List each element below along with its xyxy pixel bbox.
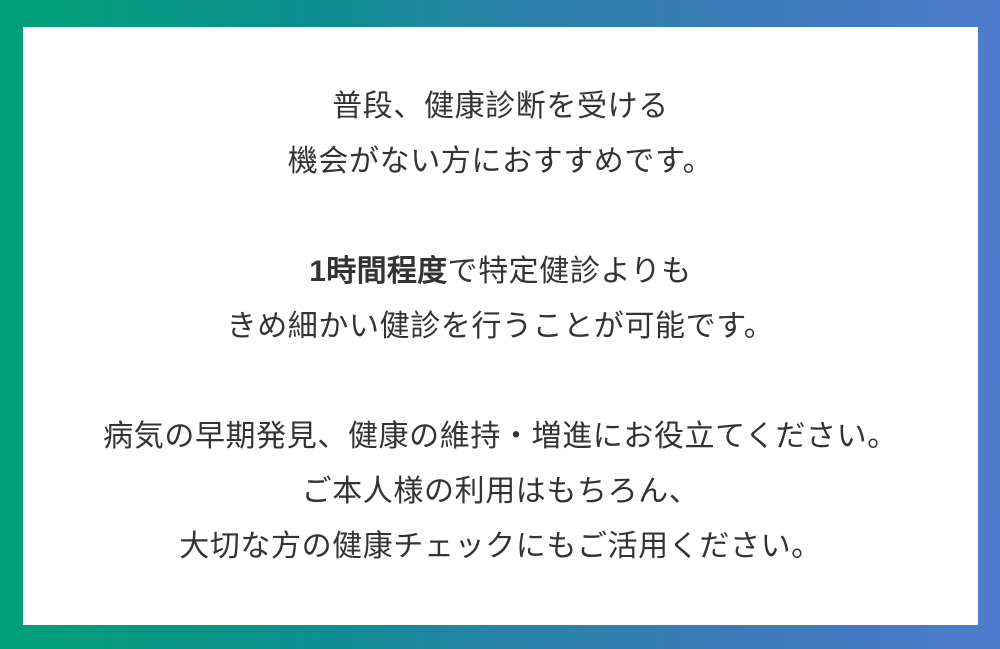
promo-card: 普段、健康診断を受ける 機会がない方におすすめです。 1時間程度で特定健診よりも…	[23, 27, 978, 625]
copy-line: 機会がない方におすすめです。	[23, 134, 978, 189]
copy-line: ご本人様の利用はもちろん、	[23, 464, 978, 519]
copy-line: 病気の早期発見、健康の維持・増進にお役立てください。	[23, 409, 978, 464]
copy-line: 普段、健康診断を受ける	[23, 79, 978, 134]
copy-line: 1時間程度で特定健診よりも	[23, 244, 978, 299]
copy-line: 大切な方の健康チェックにもご活用ください。	[23, 519, 978, 574]
copy-line-remainder: で特定健診よりも	[447, 255, 691, 288]
copy-block-intro: 普段、健康診断を受ける 機会がない方におすすめです。	[23, 79, 978, 189]
copy-line: きめ細かい健診を行うことが可能です。	[23, 299, 978, 354]
promo-copy-stack: 普段、健康診断を受ける 機会がない方におすすめです。 1時間程度で特定健診よりも…	[23, 79, 978, 574]
copy-block-duration: 1時間程度で特定健診よりも きめ細かい健診を行うことが可能です。	[23, 244, 978, 354]
copy-block-usage: 病気の早期発見、健康の維持・増進にお役立てください。 ご本人様の利用はもちろん、…	[23, 409, 978, 574]
promo-banner: 普段、健康診断を受ける 機会がない方におすすめです。 1時間程度で特定健診よりも…	[0, 0, 1000, 649]
emphasis-duration: 1時間程度	[309, 255, 447, 288]
block-spacer	[23, 354, 978, 409]
block-spacer	[23, 189, 978, 244]
